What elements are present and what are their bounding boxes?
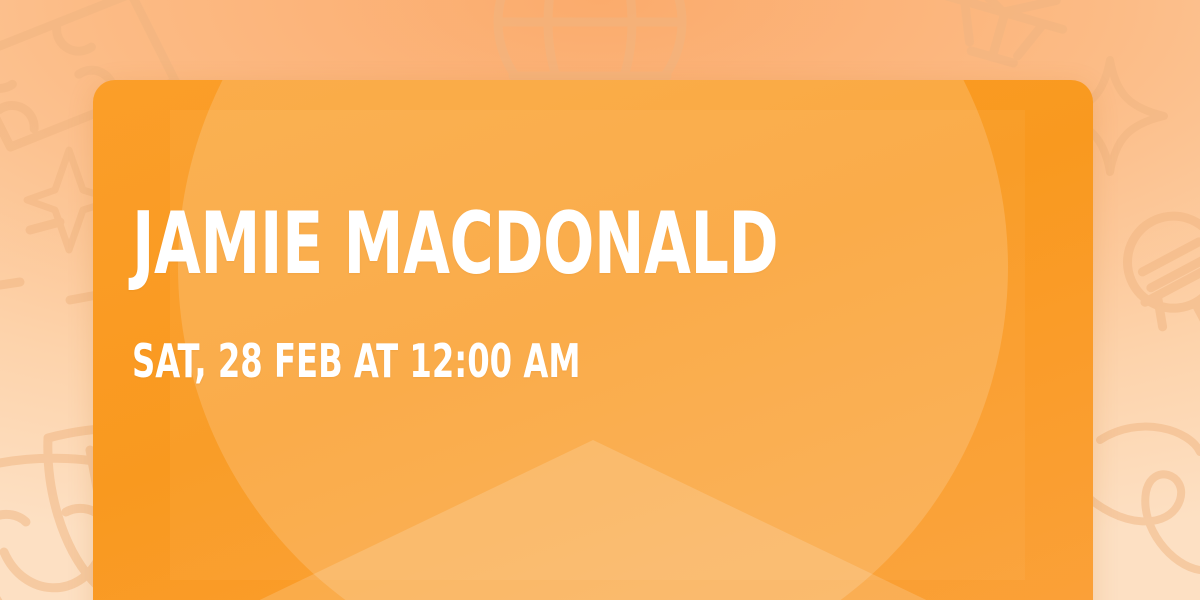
event-date: SAT, 28 FEB AT 12:00 AM <box>132 342 580 382</box>
event-title: JAMIE MACDONALD <box>132 208 778 282</box>
event-card-screen: JAMIE MACDONALD SAT, 28 FEB AT 12:00 AM <box>0 0 1200 600</box>
swirl-line-icon <box>1080 427 1200 570</box>
microphone-icon <box>1111 200 1200 416</box>
card-fan-shape <box>93 440 1093 600</box>
film-stand-icon <box>935 0 1070 74</box>
event-card[interactable]: JAMIE MACDONALD SAT, 28 FEB AT 12:00 AM <box>93 80 1093 600</box>
sparkle-small-icon <box>0 222 108 300</box>
